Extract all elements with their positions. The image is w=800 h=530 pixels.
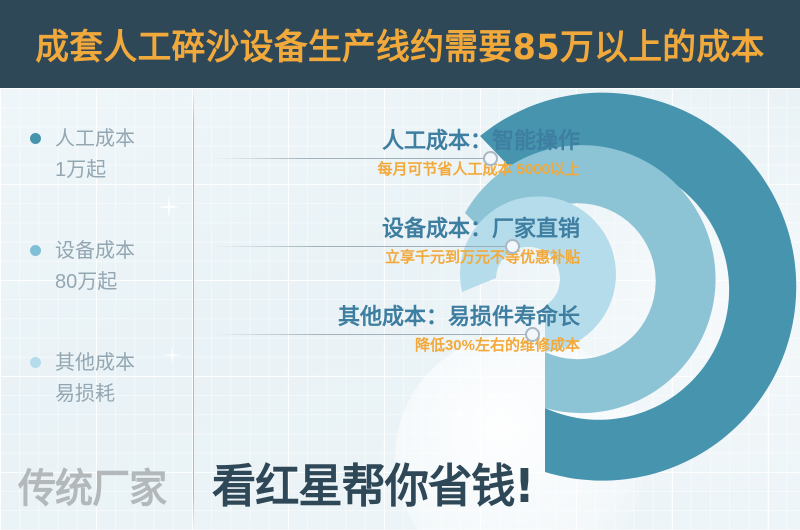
- sidebar: 人工成本 1万起 设备成本 80万起 其他成本 易损耗: [30, 124, 190, 460]
- bullet-dot-icon: [30, 245, 41, 256]
- sidebar-item-label: 设备成本 80万起: [55, 236, 135, 298]
- sidebar-item-label: 其他成本 易损耗: [55, 348, 135, 410]
- connector-line: [214, 158, 484, 159]
- sidebar-item-equipment-cost: 设备成本 80万起: [30, 236, 190, 298]
- vertical-divider: [193, 88, 194, 530]
- bullet-dot-icon: [30, 357, 41, 368]
- sidebar-item-labor-cost: 人工成本 1万起: [30, 124, 190, 186]
- benefit-heading: 其他成本：易损件寿命长: [200, 302, 580, 332]
- sidebar-item-label: 人工成本 1万起: [55, 124, 135, 186]
- connector-line: [214, 334, 526, 335]
- connector-node-icon: [483, 151, 498, 166]
- connector-node-icon: [525, 327, 540, 342]
- connector-node-icon: [505, 239, 520, 254]
- page-title: 成套人工碎沙设备生产线约需要85万以上的成本: [16, 0, 784, 88]
- benefit-subtitle: 每月可节省人工成本 5000以上: [200, 158, 580, 182]
- benefit-row-labor: 人工成本：智能操作 每月可节省人工成本 5000以上: [200, 126, 580, 182]
- bullet-dot-icon: [30, 133, 41, 144]
- slogan-text: 看红星帮你省钱!: [212, 450, 534, 516]
- traditional-vendor-label: 传统厂家: [18, 456, 166, 514]
- header-banner: 成套人工碎沙设备生产线约需要85万以上的成本: [0, 0, 800, 88]
- benefit-subtitle: 降低30%左右的维修成本: [200, 334, 580, 358]
- benefit-heading: 人工成本：智能操作: [200, 126, 580, 156]
- connector-line: [214, 246, 506, 247]
- benefit-row-other: 其他成本：易损件寿命长 降低30%左右的维修成本: [200, 302, 580, 358]
- infographic-poster: 成套人工碎沙设备生产线约需要85万以上的成本: [0, 0, 800, 530]
- benefit-subtitle: 立享千元到万元不等优惠补贴: [200, 246, 580, 270]
- benefit-heading: 设备成本：厂家直销: [200, 214, 580, 244]
- benefit-row-equipment: 设备成本：厂家直销 立享千元到万元不等优惠补贴: [200, 214, 580, 270]
- body-area: 人工成本 1万起 设备成本 80万起 其他成本 易损耗 人工成本：智能操作 每月…: [0, 88, 800, 530]
- sidebar-item-other-cost: 其他成本 易损耗: [30, 348, 190, 410]
